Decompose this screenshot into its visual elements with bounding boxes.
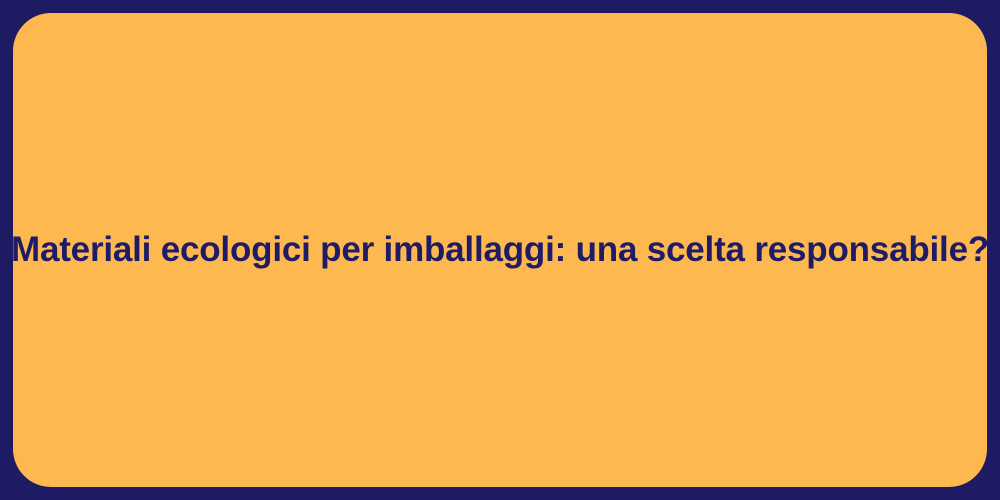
page-title: Materiali ecologici per imballaggi: una … bbox=[11, 228, 989, 272]
title-card: Materiali ecologici per imballaggi: una … bbox=[13, 13, 987, 487]
page-background: Materiali ecologici per imballaggi: una … bbox=[0, 0, 1000, 500]
